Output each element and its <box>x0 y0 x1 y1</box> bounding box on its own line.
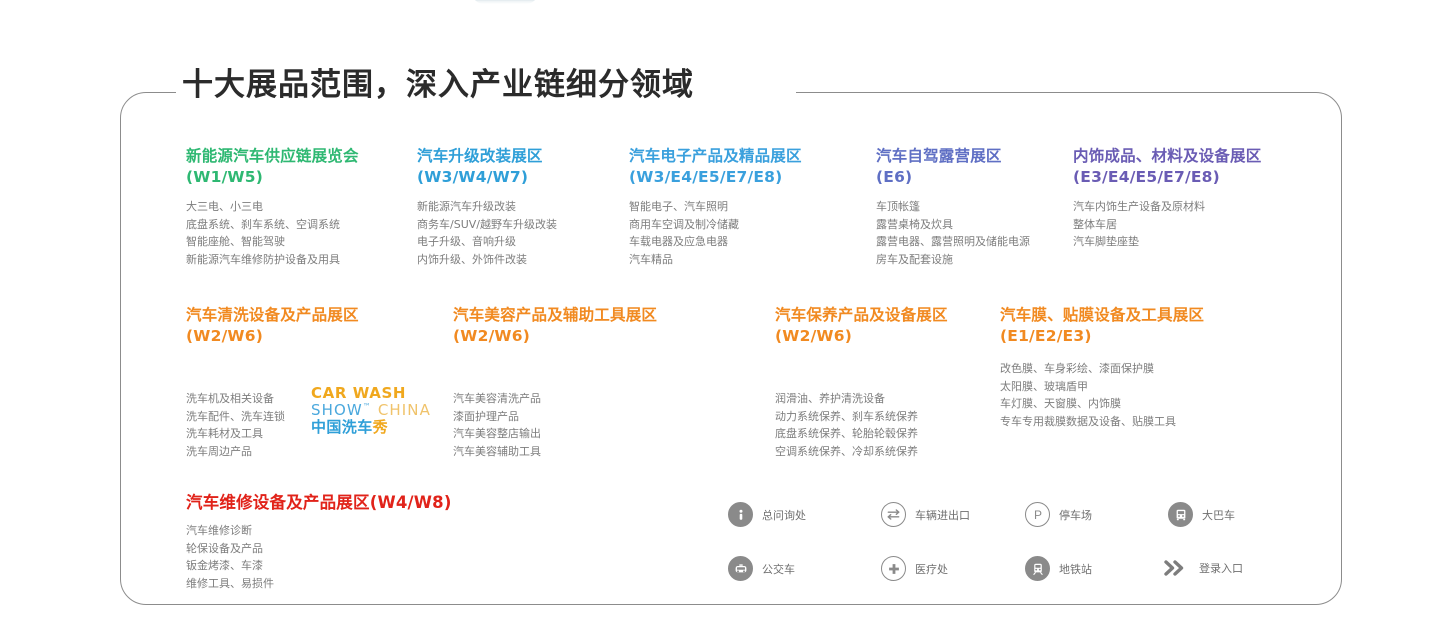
section-item-list: 汽车维修诊断 轮保设备及产品 钣金烤漆、车漆 维修工具、易损件 <box>186 522 452 593</box>
cropped-logo-artifact <box>472 0 538 4</box>
section-heading: 汽车维修设备及产品展区(W4/W8) <box>186 492 452 515</box>
section-heading: 汽车自驾露营展区 (E6) <box>876 146 1030 189</box>
section-heading: 汽车美容产品及辅助工具展区 (W2/W6) <box>453 305 657 348</box>
car-wash-show-china-logo: CAR WASH SHOW™ CHINA 中国洗车秀 <box>311 385 431 436</box>
section-item-list: 改色膜、车身彩绘、漆面保护膜 太阳膜、玻璃盾甲 车灯膜、天窗膜、内饰膜 专车专用… <box>1000 360 1204 431</box>
legend-label: 大巴车 <box>1202 507 1235 523</box>
logo-xiu-text: 秀 <box>373 418 388 436</box>
list-item: 专车专用裁膜数据及设备、贴膜工具 <box>1000 413 1204 431</box>
legend-label: 总问询处 <box>762 507 806 523</box>
list-item: 智能座舱、智能驾驶 <box>186 233 359 251</box>
logo-line-show-china: SHOW™ CHINA <box>311 402 431 419</box>
section-maintenance-products-equipment: 汽车保养产品及设备展区 (W2/W6) 润滑油、养护清洗设备 动力系统保养、刹车… <box>775 305 948 461</box>
list-item: 空调系统保养、冷却系统保养 <box>775 443 948 461</box>
section-vehicle-upgrade-modification: 汽车升级改装展区 (W3/W4/W7) 新能源汽车升级改装 商务车/SUV/越野… <box>417 146 557 269</box>
section-item-list: 车顶帐篷 露营桌椅及炊具 露营电器、露营照明及储能电源 房车及配套设施 <box>876 198 1030 269</box>
section-heading: 汽车保养产品及设备展区 (W2/W6) <box>775 305 948 348</box>
section-item-list: 汽车内饰生产设备及原材料 整体车居 汽车脚垫座垫 <box>1073 198 1261 251</box>
legend-label: 车辆进出口 <box>915 507 970 523</box>
section-heading: 汽车清洗设备及产品展区 (W2/W6) <box>186 305 359 348</box>
section-self-drive-camping: 汽车自驾露营展区 (E6) 车顶帐篷 露营桌椅及炊具 露营电器、露营照明及储能电… <box>876 146 1030 269</box>
section-item-list: 大三电、小三电 底盘系统、刹车系统、空调系统 智能座舱、智能驾驶 新能源汽车维修… <box>186 198 359 269</box>
list-item: 改色膜、车身彩绘、漆面保护膜 <box>1000 360 1204 378</box>
legend-label: 地铁站 <box>1059 561 1092 577</box>
section-car-wash-equipment: 汽车清洗设备及产品展区 (W2/W6) 洗车机及相关设备 洗车配件、洗车连锁 洗… <box>186 305 359 461</box>
registration-entrance-icon <box>1164 556 1190 579</box>
exhibition-scope-poster: 十大展品范围，深入产业链细分领域 新能源汽车供应链展览会 (W1/W5) 大三电… <box>0 0 1440 642</box>
list-item: 智能电子、汽车照明 <box>629 198 802 216</box>
parking-icon: P <box>1025 502 1050 527</box>
svg-text:P: P <box>1033 508 1041 522</box>
list-item: 底盘系统、刹车系统、空调系统 <box>186 216 359 234</box>
legend-item-public-bus: 公交车 <box>728 556 795 581</box>
logo-line-chinese: 中国洗车秀 <box>311 419 431 437</box>
list-item: 新能源汽车维修防护设备及用具 <box>186 251 359 269</box>
section-heading: 汽车电子产品及精品展区 (W3/E4/E5/E7/E8) <box>629 146 802 189</box>
coach-bus-icon <box>1168 502 1193 527</box>
section-heading: 汽车膜、贴膜设备及工具展区 (E1/E2/E3) <box>1000 305 1204 348</box>
list-item: 底盘系统保养、轮胎轮毂保养 <box>775 425 948 443</box>
section-heading: 新能源汽车供应链展览会 (W1/W5) <box>186 146 359 189</box>
section-item-list: 汽车美容清洗产品 漆面护理产品 汽车美容整店输出 汽车美容辅助工具 <box>453 390 657 461</box>
section-item-list: 润滑油、养护清洗设备 动力系统保养、刹车系统保养 底盘系统保养、轮胎轮毂保养 空… <box>775 390 948 461</box>
public-bus-icon <box>728 556 753 581</box>
section-new-energy-supply-chain: 新能源汽车供应链展览会 (W1/W5) 大三电、小三电 底盘系统、刹车系统、空调… <box>186 146 359 269</box>
list-item: 商务车/SUV/越野车升级改装 <box>417 216 557 234</box>
section-repair-equipment-products: 汽车维修设备及产品展区(W4/W8) 汽车维修诊断 轮保设备及产品 钣金烤漆、车… <box>186 492 452 593</box>
list-item: 太阳膜、玻璃盾甲 <box>1000 378 1204 396</box>
section-film-wrapping-tools: 汽车膜、贴膜设备及工具展区 (E1/E2/E3) 改色膜、车身彩绘、漆面保护膜 … <box>1000 305 1204 431</box>
list-item: 电子升级、音响升级 <box>417 233 557 251</box>
list-item: 汽车脚垫座垫 <box>1073 233 1261 251</box>
legend-label: 医疗处 <box>915 561 948 577</box>
list-item: 汽车美容辅助工具 <box>453 443 657 461</box>
metro-station-icon <box>1025 556 1050 581</box>
list-item: 汽车美容整店输出 <box>453 425 657 443</box>
map-legend: 总问询处 车辆进出口 P 停车场 <box>728 498 1308 590</box>
legend-label: 停车场 <box>1059 507 1092 523</box>
list-item: 动力系统保养、刹车系统保养 <box>775 408 948 426</box>
section-interior-materials-equipment: 内饰成品、材料及设备展区 (E3/E4/E5/E7/E8) 汽车内饰生产设备及原… <box>1073 146 1261 251</box>
page-title: 十大展品范围，深入产业链细分领域 <box>182 70 694 101</box>
section-heading: 内饰成品、材料及设备展区 (E3/E4/E5/E7/E8) <box>1073 146 1261 189</box>
list-item: 洗车周边产品 <box>186 443 359 461</box>
medical-icon <box>881 556 906 581</box>
list-item: 露营电器、露营照明及储能电源 <box>876 233 1030 251</box>
section-car-beauty-products: 汽车美容产品及辅助工具展区 (W2/W6) 汽车美容清洗产品 漆面护理产品 汽车… <box>453 305 657 461</box>
list-item: 润滑油、养护清洗设备 <box>775 390 948 408</box>
section-item-list: 智能电子、汽车照明 商用车空调及制冷储藏 车载电器及应急电器 汽车精品 <box>629 198 802 269</box>
section-heading: 汽车升级改装展区 (W3/W4/W7) <box>417 146 557 189</box>
list-item: 漆面护理产品 <box>453 408 657 426</box>
list-item: 汽车内饰生产设备及原材料 <box>1073 198 1261 216</box>
list-item: 汽车维修诊断 <box>186 522 452 540</box>
list-item: 整体车居 <box>1073 216 1261 234</box>
logo-chinese-text: 中国洗车 <box>311 418 373 436</box>
list-item: 钣金烤漆、车漆 <box>186 557 452 575</box>
legend-label: 公交车 <box>762 561 795 577</box>
list-item: 维修工具、易损件 <box>186 575 452 593</box>
list-item: 商用车空调及制冷储藏 <box>629 216 802 234</box>
legend-item-coach-bus: 大巴车 <box>1168 502 1235 527</box>
logo-line-car-wash: CAR WASH <box>311 385 431 402</box>
list-item: 露营桌椅及炊具 <box>876 216 1030 234</box>
list-item: 大三电、小三电 <box>186 198 359 216</box>
logo-show-text: SHOW <box>311 401 363 419</box>
section-item-list: 新能源汽车升级改装 商务车/SUV/越野车升级改装 电子升级、音响升级 内饰升级… <box>417 198 557 269</box>
vehicle-entrance-exit-icon <box>881 502 906 527</box>
list-item: 新能源汽车升级改装 <box>417 198 557 216</box>
information-icon <box>728 502 753 527</box>
section-auto-electronics-accessories: 汽车电子产品及精品展区 (W3/E4/E5/E7/E8) 智能电子、汽车照明 商… <box>629 146 802 269</box>
logo-china-text: CHINA <box>378 401 431 419</box>
list-item: 汽车美容清洗产品 <box>453 390 657 408</box>
list-item: 房车及配套设施 <box>876 251 1030 269</box>
trademark-icon: ™ <box>363 402 372 411</box>
list-item: 轮保设备及产品 <box>186 540 452 558</box>
legend-item-registration-entrance: 登录入口 <box>1164 556 1243 579</box>
list-item: 车灯膜、天窗膜、内饰膜 <box>1000 395 1204 413</box>
list-item: 车顶帐篷 <box>876 198 1030 216</box>
list-item: 内饰升级、外饰件改装 <box>417 251 557 269</box>
legend-item-parking: P 停车场 <box>1025 502 1092 527</box>
legend-label: 登录入口 <box>1199 560 1243 576</box>
legend-item-medical: 医疗处 <box>881 556 948 581</box>
legend-item-metro-station: 地铁站 <box>1025 556 1092 581</box>
list-item: 车载电器及应急电器 <box>629 233 802 251</box>
legend-item-vehicle-entrance-exit: 车辆进出口 <box>881 502 970 527</box>
legend-item-information: 总问询处 <box>728 502 806 527</box>
list-item: 汽车精品 <box>629 251 802 269</box>
